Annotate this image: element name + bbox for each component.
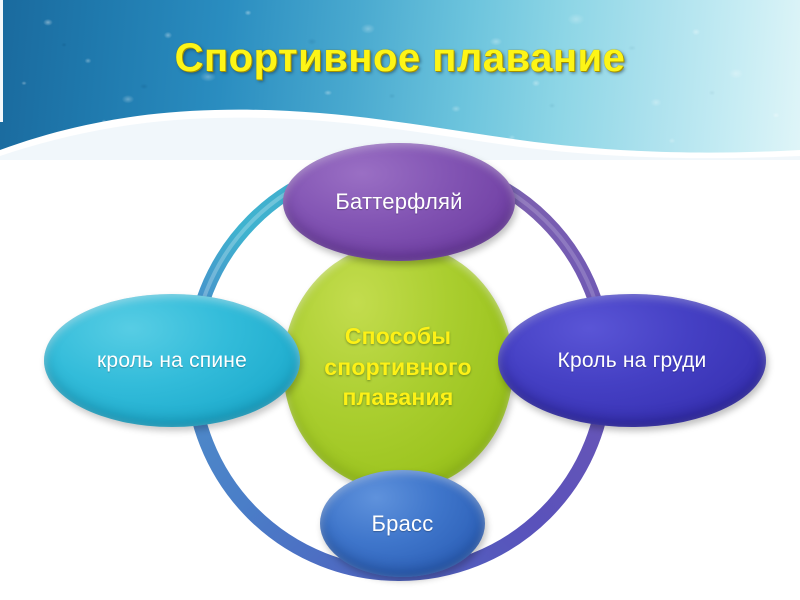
- center-label-line-2: спортивного: [324, 352, 472, 382]
- node-backstroke[interactable]: кроль на спине: [44, 294, 300, 427]
- center-label-line-3: плавания: [343, 382, 454, 412]
- node-breaststroke[interactable]: Брасс: [320, 470, 485, 577]
- center-label-line-1: Способы: [345, 321, 451, 351]
- node-butterfly-label: Баттерфляй: [335, 189, 462, 215]
- slide-canvas: Спортивное плавание: [0, 0, 800, 600]
- center-node-swimming-methods[interactable]: Способы спортивного плавания: [283, 243, 513, 491]
- cycle-diagram: Способы спортивного плавания Баттерфляй …: [0, 130, 800, 600]
- node-front-crawl[interactable]: Кроль на груди: [498, 294, 766, 427]
- node-butterfly[interactable]: Баттерфляй: [283, 143, 515, 261]
- node-backstroke-label: кроль на спине: [97, 349, 247, 373]
- page-title: Спортивное плавание: [0, 36, 800, 81]
- node-breaststroke-label: Брасс: [372, 511, 434, 537]
- node-front-crawl-label: Кроль на груди: [558, 349, 707, 373]
